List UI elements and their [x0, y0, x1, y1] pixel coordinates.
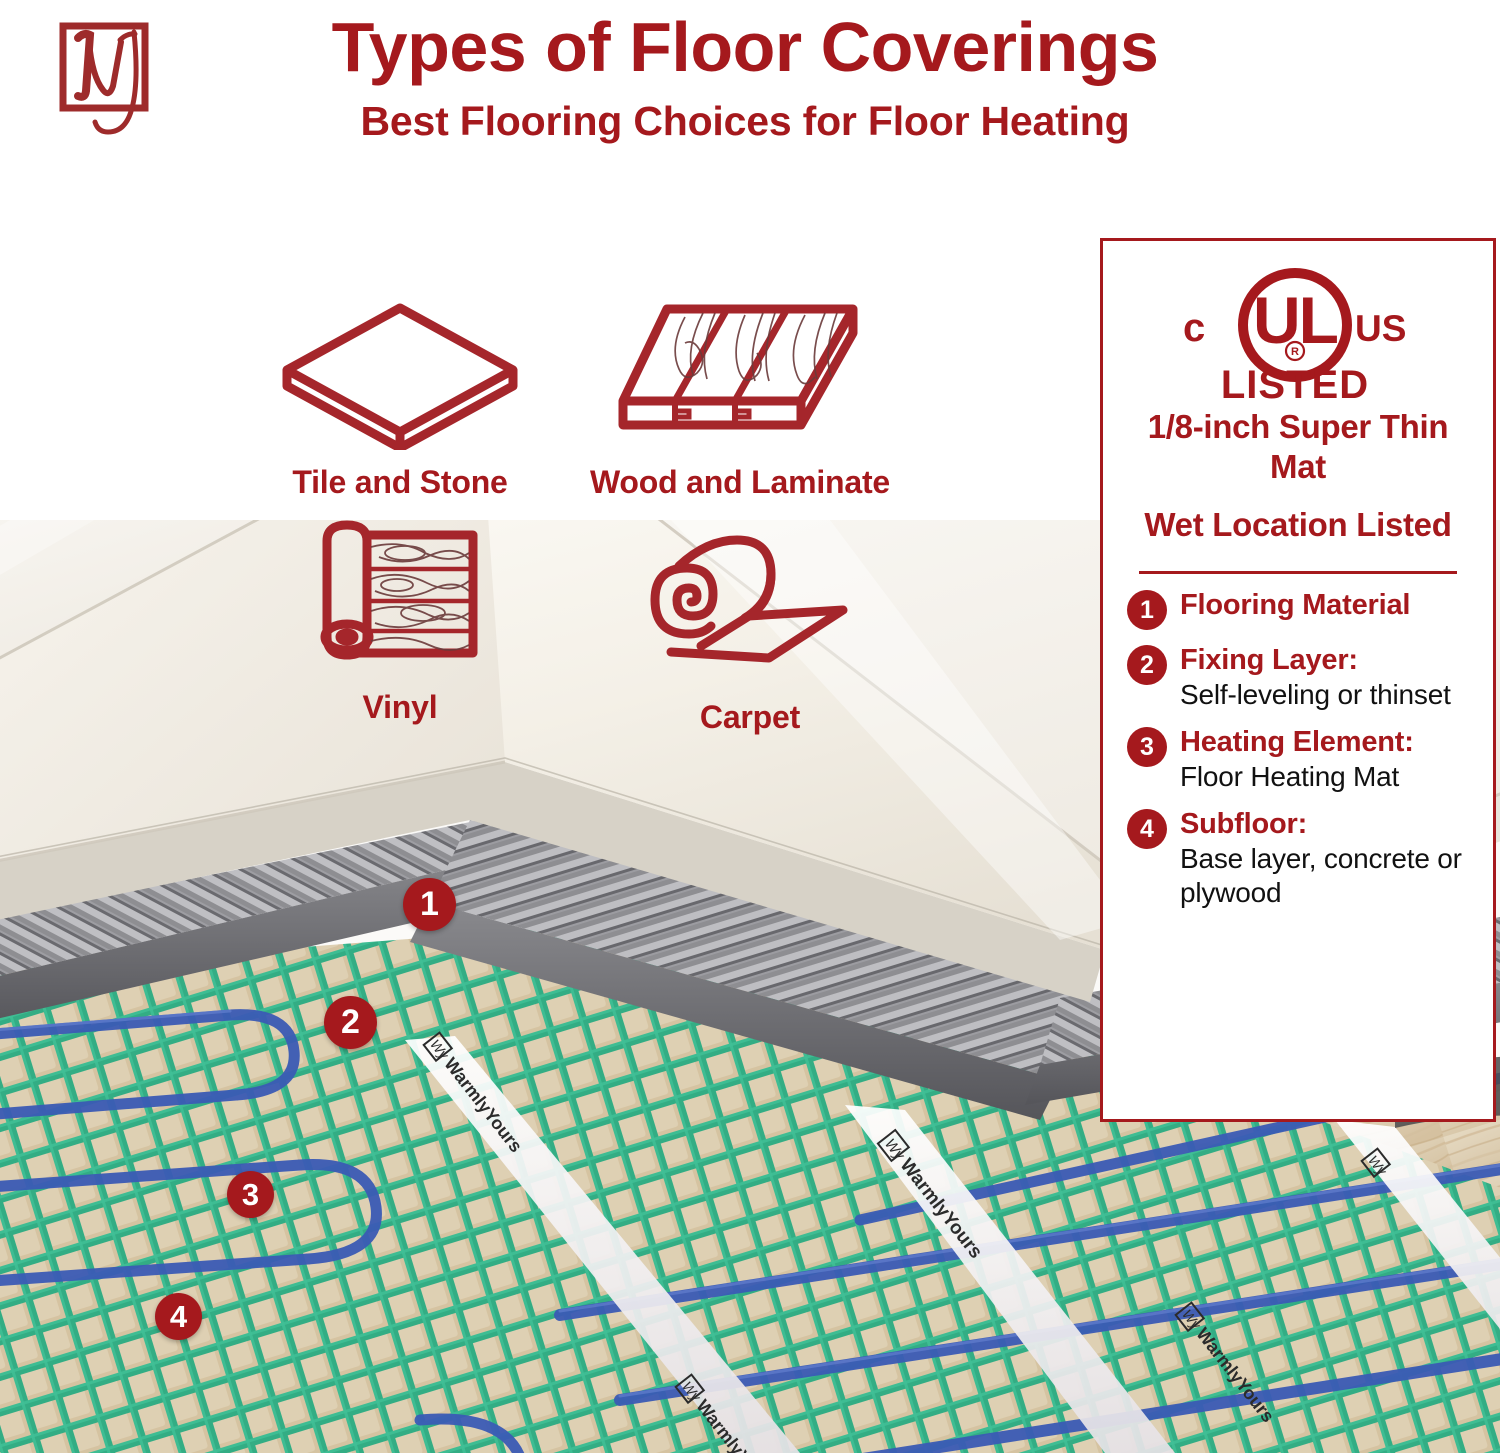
legend-item-3[interactable]: 3 Heating Element: Floor Heating Mat [1127, 725, 1469, 794]
legend-desc-4: Base layer, concrete or plywood [1180, 842, 1469, 910]
legend-title-2: Fixing Layer: [1180, 643, 1469, 678]
certification-info-panel: c UL R US LISTED 1/8-inch Super Thin Mat… [1100, 238, 1496, 1122]
carpet-roll-icon [575, 515, 925, 695]
svg-text:US: US [1355, 308, 1406, 349]
flooring-type-wood-and-laminate[interactable]: Wood and Laminate [555, 280, 925, 501]
legend-title-1: Flooring Material [1180, 588, 1469, 623]
page-subtitle: Best Flooring Choices for Floor Heating [190, 94, 1300, 148]
vinyl-roll-icon [225, 505, 575, 685]
legend-item-1[interactable]: 1 Flooring Material [1127, 588, 1469, 630]
photo-marker-3[interactable]: 3 [227, 1171, 274, 1218]
photo-marker-2[interactable]: 2 [324, 996, 377, 1049]
legend-desc-2: Self-leveling or thinset [1180, 678, 1469, 712]
wy-monogram-logo [48, 18, 174, 140]
legend-badge-2: 2 [1127, 645, 1167, 685]
flooring-type-tile-and-stone[interactable]: Tile and Stone [215, 280, 585, 501]
svg-text:c: c [1183, 306, 1205, 350]
flooring-types-group: Tile and Stone [215, 270, 975, 770]
svg-text:R: R [1291, 346, 1299, 358]
flooring-type-label: Wood and Laminate [555, 464, 925, 501]
wood-plank-icon [555, 280, 925, 460]
flooring-type-label: Tile and Stone [215, 464, 585, 501]
page-header: Types of Floor Coverings Best Flooring C… [0, 0, 1500, 200]
flooring-type-vinyl[interactable]: Vinyl [225, 505, 575, 726]
ul-listed-mark: c UL R US LISTED [1127, 267, 1469, 407]
svg-text:LISTED: LISTED [1221, 363, 1369, 405]
tile-slab-icon [215, 280, 585, 460]
panel-headline-wet-location: Wet Location Listed [1127, 505, 1469, 545]
legend-title-3: Heating Element: [1180, 725, 1469, 760]
flooring-type-carpet[interactable]: Carpet [575, 515, 925, 736]
legend-item-4[interactable]: 4 Subfloor: Base layer, concrete or plyw… [1127, 807, 1469, 910]
flooring-type-label: Carpet [575, 699, 925, 736]
legend-badge-3: 3 [1127, 727, 1167, 767]
photo-marker-1[interactable]: 1 [403, 878, 456, 931]
panel-divider [1139, 571, 1457, 574]
flooring-type-label: Vinyl [225, 689, 575, 726]
photo-marker-4[interactable]: 4 [155, 1293, 202, 1340]
panel-headline-thin-mat: 1/8-inch Super Thin Mat [1127, 407, 1469, 487]
legend-badge-4: 4 [1127, 809, 1167, 849]
page-title: Types of Floor Coverings [190, 4, 1300, 90]
legend-desc-3: Floor Heating Mat [1180, 760, 1469, 794]
legend-title-4: Subfloor: [1180, 807, 1469, 842]
legend-item-2[interactable]: 2 Fixing Layer: Self-leveling or thinset [1127, 643, 1469, 712]
legend-badge-1: 1 [1127, 590, 1167, 630]
